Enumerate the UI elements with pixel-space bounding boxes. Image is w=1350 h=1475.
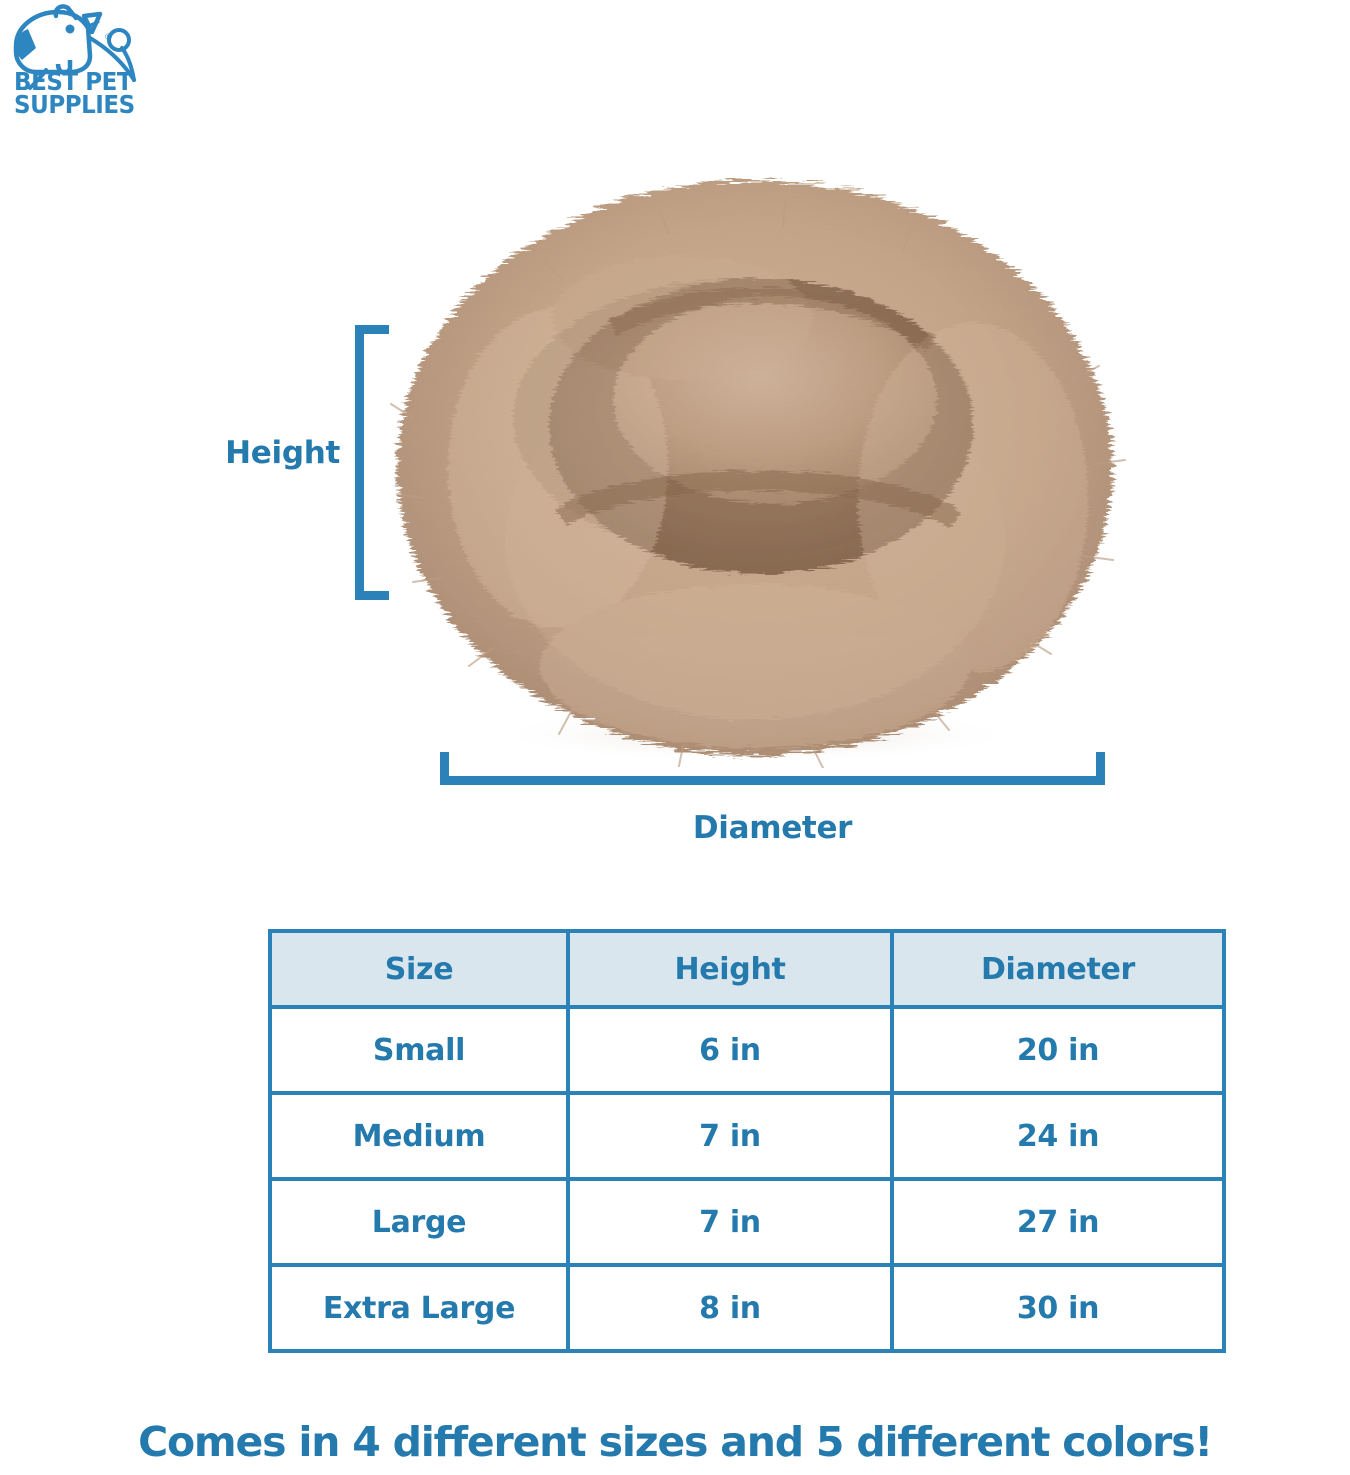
cell-size: Large [270, 1179, 568, 1265]
size-chart-body: Small 6 in 20 in Medium 7 in 24 in Large… [270, 1007, 1224, 1351]
table-row: Extra Large 8 in 30 in [270, 1265, 1224, 1351]
product-image-pet-bed [383, 168, 1128, 768]
table-header-row: Size Height Diameter [270, 931, 1224, 1007]
brand-logo: ® BEST PET SUPPLIES [6, 4, 166, 132]
cell-size: Extra Large [270, 1265, 568, 1351]
cell-diameter: 24 in [892, 1093, 1224, 1179]
cell-diameter: 30 in [892, 1265, 1224, 1351]
table-row: Large 7 in 27 in [270, 1179, 1224, 1265]
cell-size: Small [270, 1007, 568, 1093]
column-header-size: Size [270, 931, 568, 1007]
table-row: Medium 7 in 24 in [270, 1093, 1224, 1179]
diameter-bracket-icon [440, 752, 1105, 785]
registered-trademark-icon: ® [104, 33, 113, 43]
column-header-height: Height [568, 931, 892, 1007]
height-bracket-icon [355, 325, 389, 600]
cell-height: 7 in [568, 1179, 892, 1265]
table-row: Small 6 in 20 in [270, 1007, 1224, 1093]
cell-height: 6 in [568, 1007, 892, 1093]
size-chart-header: Size Height Diameter [270, 931, 1224, 1007]
cell-height: 8 in [568, 1265, 892, 1351]
cell-size: Medium [270, 1093, 568, 1179]
diameter-measurement: Diameter [440, 752, 1105, 862]
footer-tagline: Comes in 4 different sizes and 5 differe… [0, 1418, 1350, 1466]
cell-diameter: 20 in [892, 1007, 1224, 1093]
column-header-diameter: Diameter [892, 931, 1224, 1007]
height-label: Height [200, 435, 340, 471]
diameter-label: Diameter [440, 810, 1105, 846]
size-chart-table: Size Height Diameter Small 6 in 20 in Me… [268, 929, 1226, 1353]
cell-height: 7 in [568, 1093, 892, 1179]
brand-wordmark: BEST PET SUPPLIES [14, 70, 150, 116]
cell-diameter: 27 in [892, 1179, 1224, 1265]
height-measurement: Height [200, 325, 440, 600]
brand-wordmark-line2: SUPPLIES [14, 93, 150, 116]
